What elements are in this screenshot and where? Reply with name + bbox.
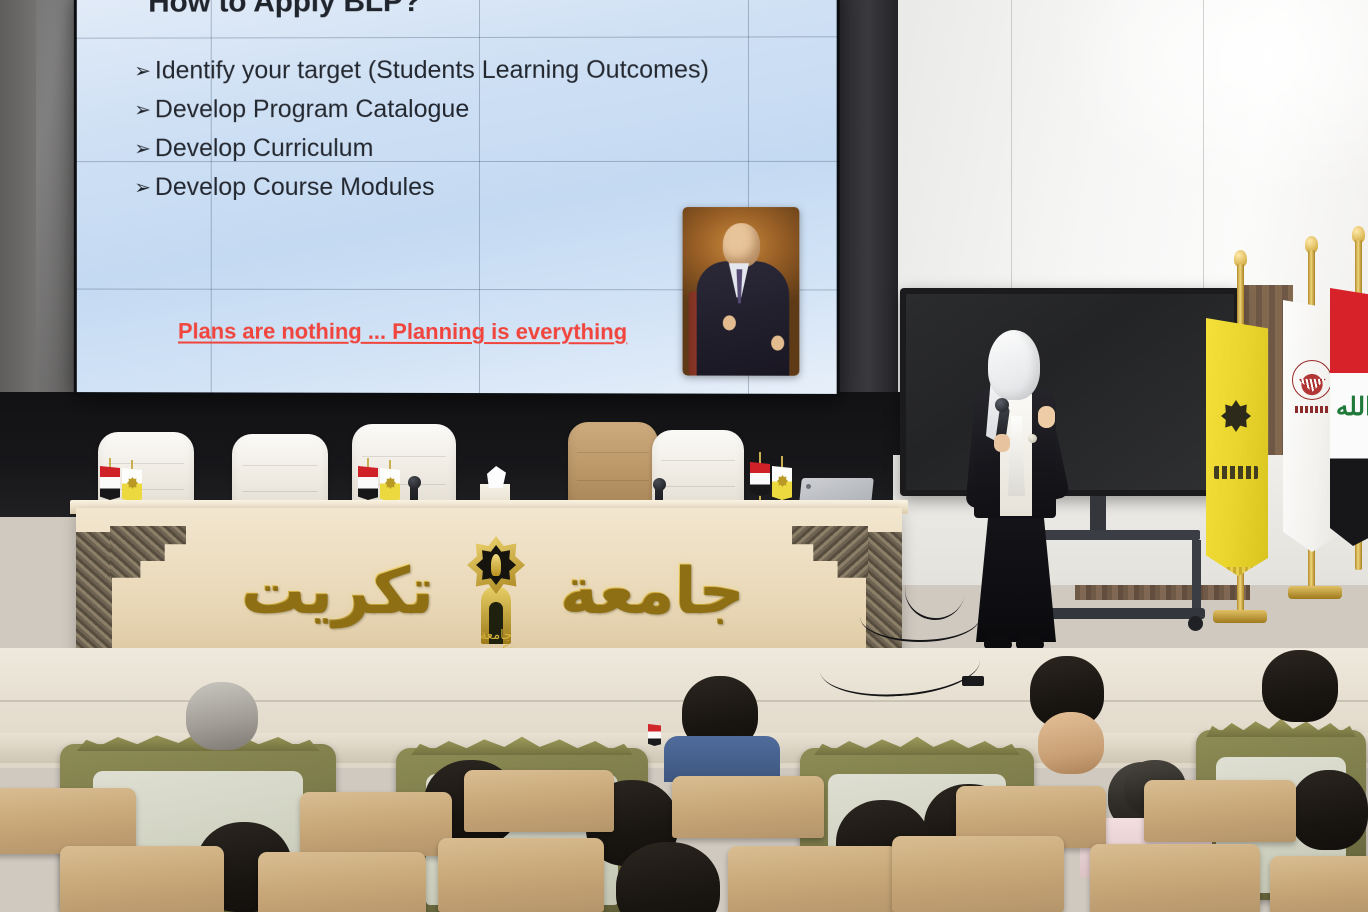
university-logo-icon: جامعة تكريت (459, 536, 533, 646)
attendee-head (616, 842, 720, 912)
microphone-head-icon (653, 478, 666, 491)
iraq-flag-script: الله (1334, 392, 1368, 422)
auditorium-seat (672, 776, 824, 838)
auditorium-seat (892, 836, 1064, 912)
bullet-arrow-icon: ➢ (134, 56, 151, 87)
slide-bullet-list: ➢ Identify your target (Students Learnin… (134, 50, 834, 207)
auditorium-seat (1270, 856, 1368, 912)
university-name-banner: تكريت جامعة تكريت جامعة (112, 526, 872, 656)
presenter-hand-holding-mic (994, 434, 1010, 452)
presenter-skirt (976, 510, 1056, 642)
auditorium-seat (1144, 780, 1296, 842)
university-flag-text (1214, 466, 1258, 479)
auditorium-seat (1090, 844, 1260, 912)
university-emblem-icon (1221, 400, 1251, 432)
caster-wheel-icon (1188, 616, 1203, 631)
attendee-head (1290, 770, 1368, 850)
bullet-text: Develop Course Modules (155, 168, 435, 207)
conference-hall-photo: How to Apply BLP? ➢ Identify your target… (0, 0, 1368, 912)
attendee-head (186, 682, 258, 750)
video-wall-screen[interactable]: How to Apply BLP? ➢ Identify your target… (74, 0, 840, 397)
bullet-arrow-icon: ➢ (134, 95, 151, 126)
lapel-pin-icon (1028, 434, 1037, 443)
auditorium-seat (60, 846, 224, 912)
university-flag (1206, 318, 1268, 576)
floor-cable (860, 592, 980, 642)
auditorium-seat (300, 792, 452, 856)
presentation-slide: How to Apply BLP? ➢ Identify your target… (77, 0, 837, 394)
list-item: ➢ Identify your target (Students Learnin… (134, 50, 834, 90)
slide-quote: Plans are nothing ... Planning is everyt… (178, 319, 627, 346)
bullet-text: Identify your target (Students Learning … (155, 51, 709, 91)
flag-stand-base (1288, 586, 1342, 599)
auditorium-seat (0, 788, 136, 854)
list-item: ➢ Develop Course Modules (134, 168, 834, 207)
laptop-camera-icon (806, 484, 811, 489)
hijab (988, 330, 1040, 400)
auditorium-seat (728, 846, 898, 912)
dark-pillar (832, 0, 898, 400)
microphone-head-icon (408, 476, 421, 489)
university-name-word-right: جامعة (559, 554, 744, 628)
university-name-word-left: تكريت (240, 554, 433, 628)
left-dark-wall-edge (0, 0, 36, 404)
auditorium-seat (464, 770, 614, 832)
iraq-flag: الله (1330, 288, 1368, 546)
attendee-head (1262, 650, 1338, 722)
bullet-arrow-icon: ➢ (134, 173, 151, 204)
display-stand-leg (1192, 540, 1201, 612)
slide-title: How to Apply BLP? (148, 0, 421, 20)
list-item: ➢ Develop Program Catalogue (134, 90, 834, 130)
presenter-gesturing-hand (1038, 406, 1055, 428)
portrait-photo (683, 207, 800, 376)
flag-stand-base (1213, 610, 1267, 623)
list-item: ➢ Develop Curriculum (134, 129, 834, 168)
auditorium-seat (438, 838, 604, 912)
small-iraq-flag (648, 724, 661, 746)
bullet-text: Develop Curriculum (155, 129, 373, 168)
attendee-head (1038, 712, 1104, 774)
microphone-head-icon (995, 398, 1009, 412)
bullet-text: Develop Program Catalogue (155, 90, 469, 129)
bullet-arrow-icon: ➢ (134, 134, 151, 165)
university-logo-caption: جامعة تكريت (463, 628, 529, 644)
auditorium-seat (258, 852, 426, 912)
